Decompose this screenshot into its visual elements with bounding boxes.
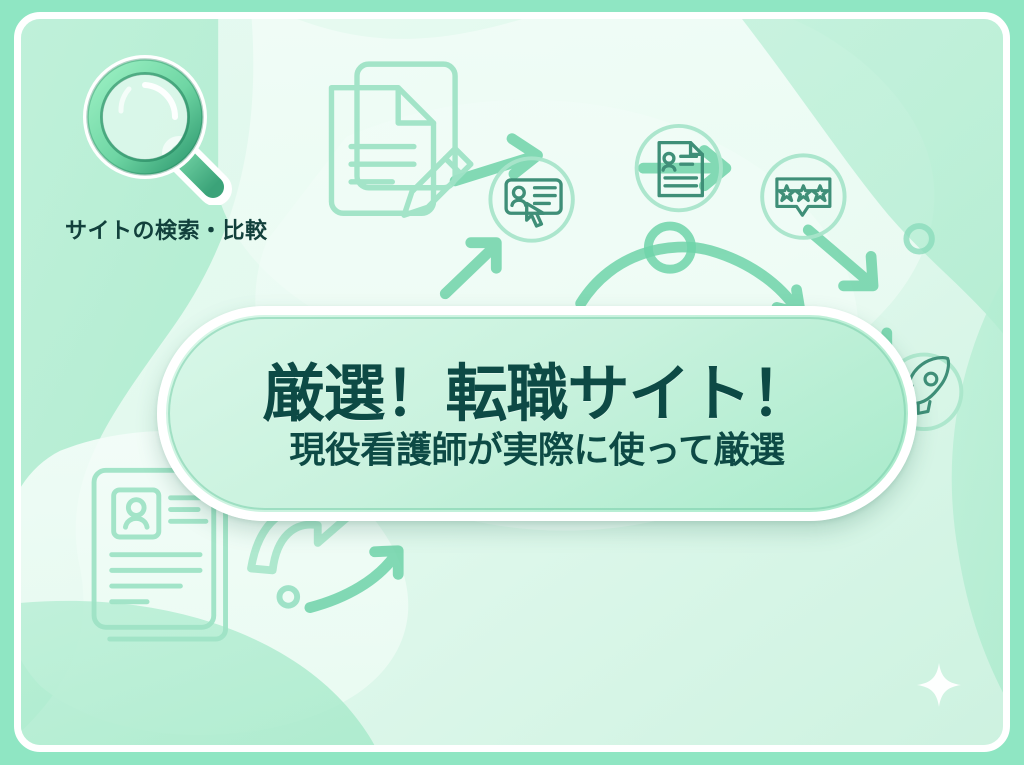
search-badge-label: サイトの検索・比較 — [65, 213, 285, 245]
document-pencil-icon — [331, 64, 470, 215]
profile-card-cursor-icon — [490, 158, 572, 240]
node-circle-right — [906, 226, 932, 252]
poster-canvas: サイトの検索・比較 厳選！転職サイト！ 現役看護師が実際に使って厳選 — [0, 0, 1024, 765]
page-subtitle: 現役看護師が実際に使って厳選 — [289, 430, 784, 470]
magnifier-icon — [83, 55, 233, 205]
arrow-down-right-1 — [808, 230, 869, 282]
poster-frame: サイトの検索・比較 厳選！転職サイト！ 現役看護師が実際に使って厳選 — [14, 12, 1010, 752]
star-review-icon — [762, 155, 844, 237]
arrow-up-right-1 — [445, 247, 494, 294]
sparkle-icon — [917, 663, 961, 707]
node-circle-small-bottom — [279, 588, 297, 606]
hero-pill: 厳選！転職サイト！ 現役看護師が実際に使って厳選 — [157, 306, 917, 521]
page-title: 厳選！転職サイト！ — [262, 363, 811, 427]
search-badge: サイトの検索・比較 — [65, 55, 285, 255]
arrow-up-right-2 — [310, 557, 394, 608]
